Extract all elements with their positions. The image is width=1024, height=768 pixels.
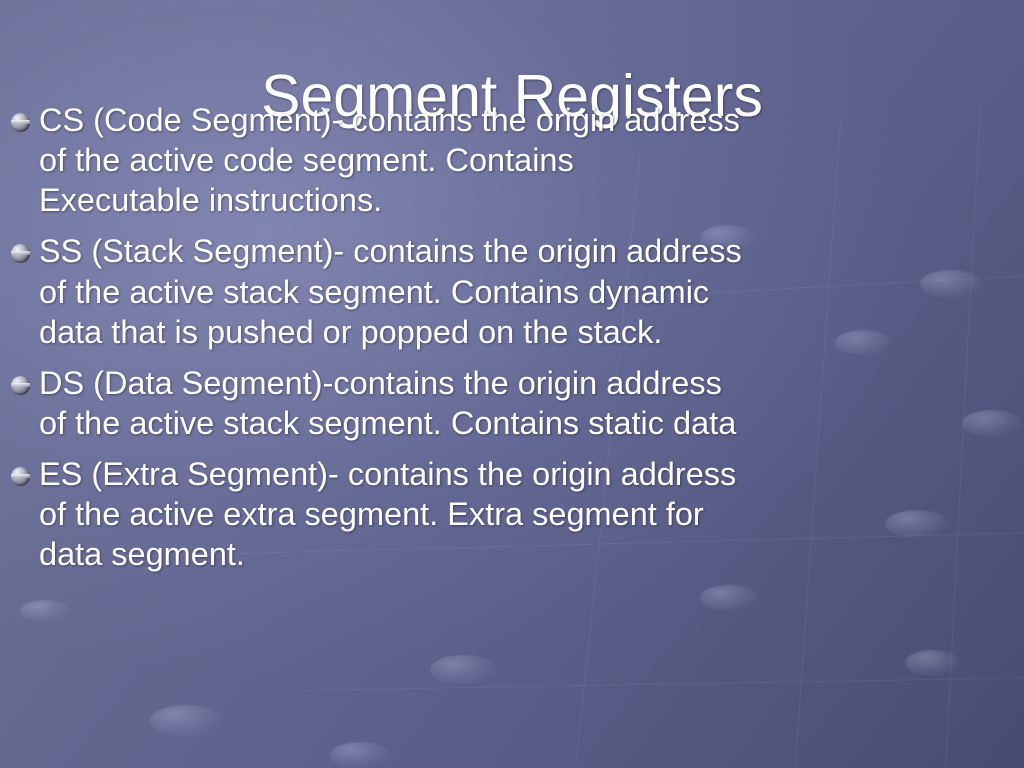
sphere-bullet-icon — [10, 243, 32, 265]
bullet-text: CS (Code Segment)- contains the origin a… — [39, 100, 740, 220]
decor-orb — [700, 585, 758, 611]
sphere-bullet-icon — [10, 375, 32, 397]
bullet-text: ES (Extra Segment)- contains the origin … — [39, 454, 736, 574]
list-item: DS (Data Segment)-contains the origin ad… — [10, 363, 945, 443]
decor-orb — [330, 742, 390, 768]
decor-orb — [20, 600, 70, 622]
decor-orb — [905, 650, 961, 676]
bullet-text: DS (Data Segment)-contains the origin ad… — [39, 363, 736, 443]
decor-orb — [430, 655, 496, 685]
sphere-bullet-icon — [10, 466, 32, 488]
decor-line — [300, 677, 1024, 691]
list-item: ES (Extra Segment)- contains the origin … — [10, 454, 945, 574]
bullet-text: SS (Stack Segment)- contains the origin … — [39, 231, 742, 351]
list-item: SS (Stack Segment)- contains the origin … — [10, 231, 945, 351]
sphere-bullet-icon — [10, 112, 32, 134]
decor-line — [945, 100, 981, 767]
presentation-slide: Segment Registers CS (Code Segment)- con… — [0, 0, 1024, 768]
decor-orb — [962, 410, 1022, 437]
decor-orb — [150, 705, 222, 737]
bullet-list: CS (Code Segment)- contains the origin a… — [10, 100, 945, 585]
list-item: CS (Code Segment)- contains the origin a… — [10, 100, 945, 220]
